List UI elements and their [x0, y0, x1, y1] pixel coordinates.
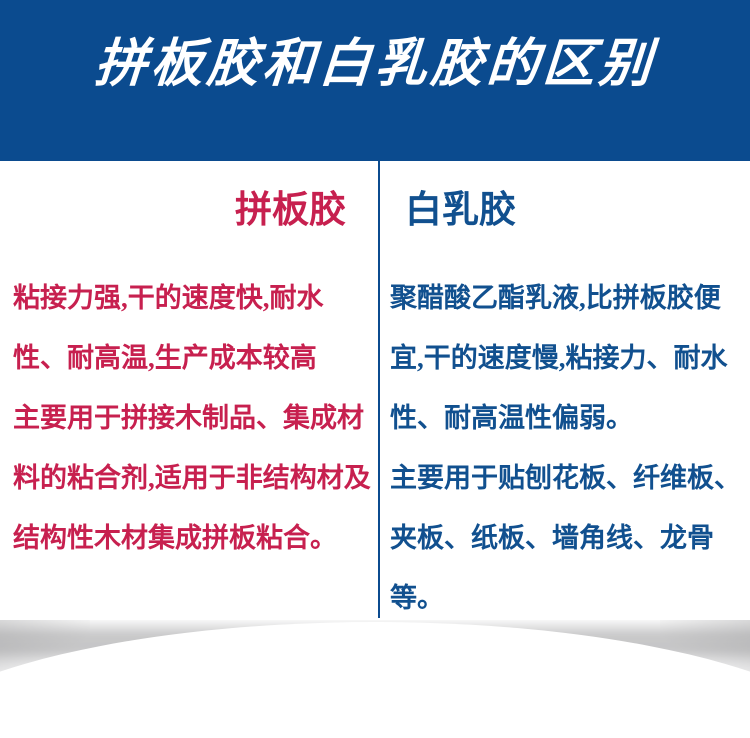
column-right-heading: 白乳胶 — [405, 191, 516, 232]
product-comparison-page: 拼板胶和白乳胶的区别 拼板胶 粘接力强,干的速度快,耐水性、耐高温,生产成本较高… — [0, 0, 750, 738]
column-left-body: 粘接力强,干的速度快,耐水性、耐高温,生产成本较高 主要用于拼接木制品、集成材料… — [13, 268, 373, 568]
column-right-paragraph-1: 聚醋酸乙酯乳液,比拼板胶便宜,干的速度慢,粘接力、耐水性、耐高温性偏弱。 — [390, 268, 750, 448]
column-right: 白乳胶 聚醋酸乙酯乳液,比拼板胶便宜,干的速度慢,粘接力、耐水性、耐高温性偏弱。… — [380, 161, 750, 620]
column-left-paragraph-2: 主要用于拼接木制品、集成材料的粘合剂,适用于非结构材及结构性木材集成拼板粘合。 — [13, 388, 373, 568]
column-left-paragraph-1: 粘接力强,干的速度快,耐水性、耐高温,生产成本较高 — [13, 268, 373, 388]
comparison-body: 拼板胶 粘接力强,干的速度快,耐水性、耐高温,生产成本较高 主要用于拼接木制品、… — [0, 161, 750, 620]
page-title: 拼板胶和白乳胶的区别 — [0, 38, 750, 90]
header-banner: 拼板胶和白乳胶的区别 — [0, 0, 750, 161]
column-right-paragraph-2: 主要用于贴刨花板、纤维板、夹板、纸板、墙角线、龙骨等。 — [390, 448, 750, 628]
content-card: 拼板胶和白乳胶的区别 拼板胶 粘接力强,干的速度快,耐水性、耐高温,生产成本较高… — [0, 0, 750, 620]
column-left: 拼板胶 粘接力强,干的速度快,耐水性、耐高温,生产成本较高 主要用于拼接木制品、… — [0, 161, 378, 620]
column-right-body: 聚醋酸乙酯乳液,比拼板胶便宜,干的速度慢,粘接力、耐水性、耐高温性偏弱。 主要用… — [390, 268, 750, 628]
column-left-heading: 拼板胶 — [235, 191, 346, 232]
